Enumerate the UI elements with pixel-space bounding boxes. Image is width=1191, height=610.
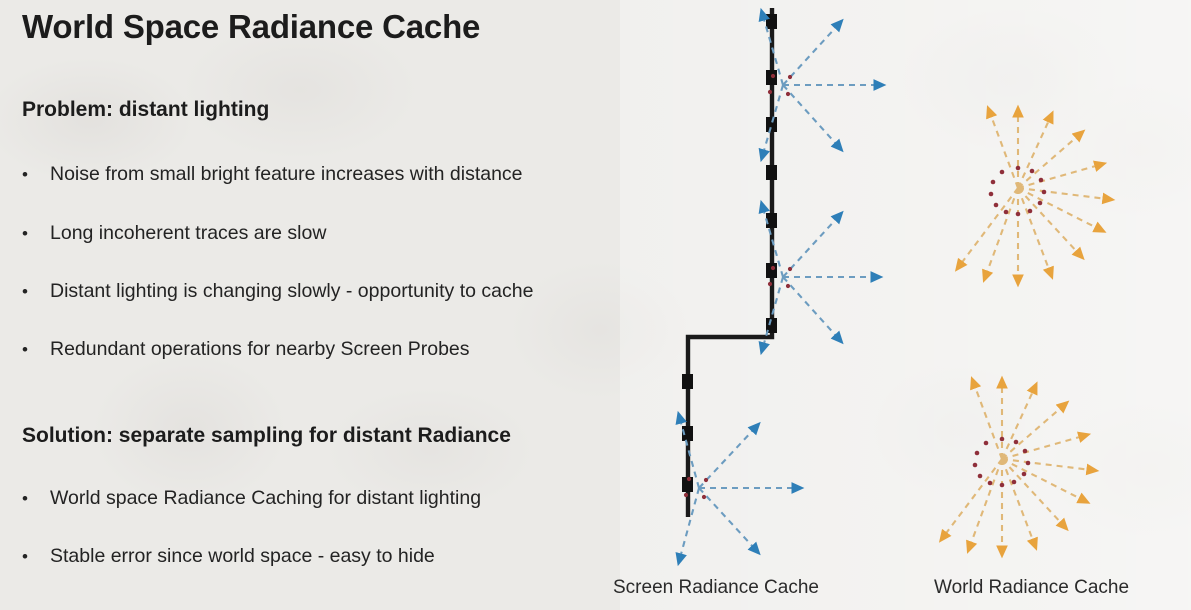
probe-dot: [988, 481, 993, 486]
slide-root: World Space Radiance Cache Problem: dist…: [0, 0, 1191, 610]
screen-probe-tick: [766, 70, 777, 85]
probe-dot: [768, 90, 772, 94]
list-item-label: Noise from small bright feature increase…: [50, 165, 523, 185]
world-ray: [1002, 406, 1063, 459]
probe-dot: [788, 267, 792, 271]
world-ray: [970, 459, 1002, 546]
probe-dot: [786, 92, 790, 96]
bullet-marker-icon: •: [22, 283, 50, 300]
probe-dot: [1030, 169, 1035, 174]
probe-dot: [1014, 440, 1019, 445]
probe-dot: [684, 493, 688, 497]
probe-dot: [1026, 461, 1031, 466]
bullet-marker-icon: •: [22, 166, 50, 183]
probe-dot: [984, 441, 989, 446]
list-item-label: Stable error since world space - easy to…: [50, 547, 435, 567]
list-item: • World space Radiance Caching for dista…: [22, 489, 481, 509]
bullet-marker-icon: •: [22, 341, 50, 358]
world-ray: [1018, 188, 1050, 272]
probe-dot: [786, 284, 790, 288]
probe-dot: [978, 474, 983, 479]
world-ray: [960, 188, 1018, 265]
probe-dot: [1000, 437, 1005, 442]
world-ray: [1002, 459, 1091, 470]
world-ray: [1018, 188, 1099, 229]
probe-dot: [994, 203, 999, 208]
probe-dot: [771, 266, 775, 270]
list-item-label: Distant lighting is changing slowly - op…: [50, 282, 533, 302]
caption-screen-radiance-cache: Screen Radiance Cache: [613, 577, 819, 599]
screen-ray-fan: [763, 16, 878, 154]
screen-ray-fan: [680, 419, 796, 558]
probe-dot: [1000, 170, 1005, 175]
list-item: • Long incoherent traces are slow: [22, 224, 326, 244]
world-ray: [986, 188, 1018, 275]
probe-dot: [704, 478, 708, 482]
list-item: • Redundant operations for nearby Screen…: [22, 340, 470, 360]
screen-ray: [783, 277, 838, 338]
probe-dot: [975, 451, 980, 456]
bullet-marker-icon: •: [22, 225, 50, 242]
world-ray: [944, 459, 1002, 536]
probe-dot: [687, 477, 691, 481]
section-heading-solution: Solution: separate sampling for distant …: [22, 424, 511, 448]
screen-probe-tick: [682, 374, 693, 389]
list-item: • Stable error since world space - easy …: [22, 547, 435, 567]
probe-dot: [973, 463, 978, 468]
screen-probe-tick: [766, 263, 777, 278]
diagram-svg: [620, 0, 1191, 575]
caption-world-radiance-cache: World Radiance Cache: [934, 577, 1129, 599]
screen-ray: [699, 488, 755, 549]
probe-dot: [768, 282, 772, 286]
screen-ray-fan: [763, 208, 875, 347]
world-ray: [990, 113, 1018, 188]
list-item-label: World space Radiance Caching for distant…: [50, 489, 481, 509]
probe-dot: [1022, 472, 1027, 477]
list-item-label: Long incoherent traces are slow: [50, 224, 326, 244]
world-ray: [1002, 389, 1034, 459]
probe-dot: [989, 192, 994, 197]
screen-probe-tick: [766, 165, 777, 180]
world-ray-burst: [944, 384, 1091, 550]
probe-dot: [1016, 166, 1021, 171]
probe-dot: [788, 75, 792, 79]
probe-dot: [1028, 209, 1033, 214]
list-item-label: Redundant operations for nearby Screen P…: [50, 340, 470, 360]
probe-dot: [1016, 212, 1021, 217]
screen-probe-tick: [766, 117, 777, 132]
world-ray: [1018, 118, 1050, 188]
probe-dot: [771, 74, 775, 78]
world-ray: [1002, 459, 1034, 543]
probe-dot: [1038, 201, 1043, 206]
world-ray: [1002, 459, 1063, 525]
probe-dot: [1004, 210, 1009, 215]
probe-dot: [1012, 480, 1017, 485]
list-item: • Noise from small bright feature increa…: [22, 165, 523, 185]
world-ray: [1018, 188, 1107, 199]
world-ray: [1018, 135, 1079, 188]
radiance-cache-diagram: [620, 0, 1191, 610]
bullet-marker-icon: •: [22, 490, 50, 507]
screen-probe-tick: [766, 14, 777, 29]
world-ray: [1002, 459, 1083, 500]
text-column: World Space Radiance Cache Problem: dist…: [0, 0, 660, 610]
probe-dot: [1039, 178, 1044, 183]
probe-dot: [991, 180, 996, 185]
probe-dot: [702, 495, 706, 499]
world-ray-burst: [960, 113, 1107, 279]
probe-dot: [1042, 190, 1047, 195]
bullet-marker-icon: •: [22, 548, 50, 565]
probe-dot: [1023, 449, 1028, 454]
section-heading-problem: Problem: distant lighting: [22, 98, 269, 122]
scene-wall: [688, 8, 772, 517]
screen-ray: [783, 85, 838, 146]
list-item: • Distant lighting is changing slowly - …: [22, 282, 533, 302]
world-ray: [1018, 188, 1079, 254]
world-ray: [974, 384, 1002, 459]
probe-dot: [1000, 483, 1005, 488]
page-title: World Space Radiance Cache: [22, 8, 480, 46]
